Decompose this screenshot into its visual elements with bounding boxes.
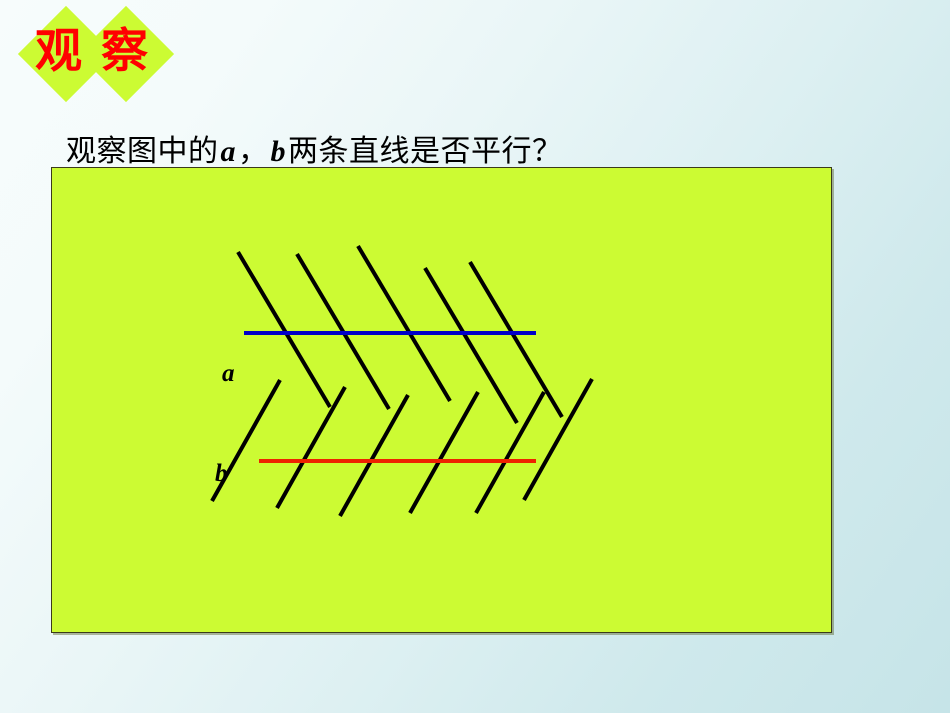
question-separator: ， [238,135,269,168]
question-line: 观察图中的a，b两条直线是否平行？ [66,126,563,170]
figure-label-a: a [222,360,235,388]
banner: 观 察 [8,2,198,106]
question-line-b-symbol: b [269,135,289,168]
lower-hatches-stroke-2 [277,387,345,508]
slide-canvas: 观 察 观察图中的a，b两条直线是否平行？ a b [0,0,950,713]
horizontal-line-group [244,333,536,461]
upper-hatches-stroke-1 [238,252,330,407]
lower-hatch-group [212,379,592,516]
banner-char-cha: 察 [101,18,148,86]
question-part-2: 两条直线是否平行？ [288,135,563,168]
lower-hatches-stroke-3 [340,395,408,516]
figure-label-b: b [215,460,228,488]
zollner-illusion-figure [52,168,833,634]
lower-hatches-stroke-4 [410,392,478,513]
figure-panel: a b [51,167,832,633]
banner-char-guan: 观 [35,18,82,86]
upper-hatches-stroke-4 [425,268,517,423]
upper-hatches-stroke-5 [470,262,562,417]
lower-hatches-stroke-6 [524,379,592,500]
question-line-a-symbol: a [219,135,239,168]
question-part-1: 观察图中的 [66,135,219,168]
